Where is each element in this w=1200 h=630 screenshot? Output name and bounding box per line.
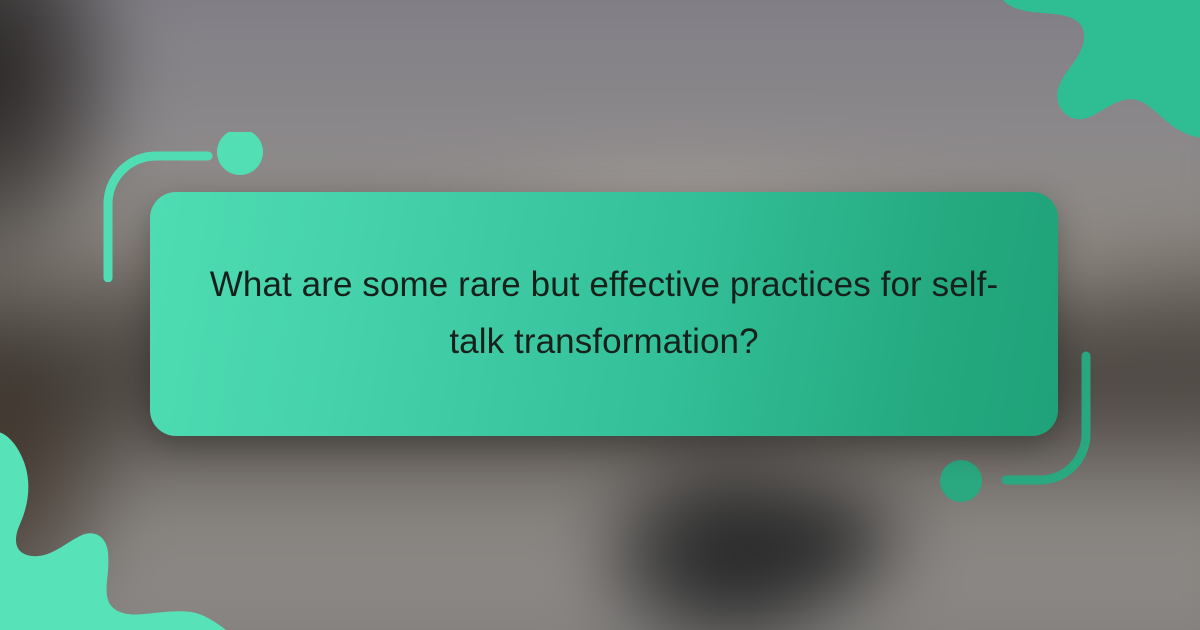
og-image-canvas: What are some rare but effective practic… xyxy=(0,0,1200,630)
question-text: What are some rare but effective practic… xyxy=(208,257,1000,370)
question-card: What are some rare but effective practic… xyxy=(150,192,1058,436)
